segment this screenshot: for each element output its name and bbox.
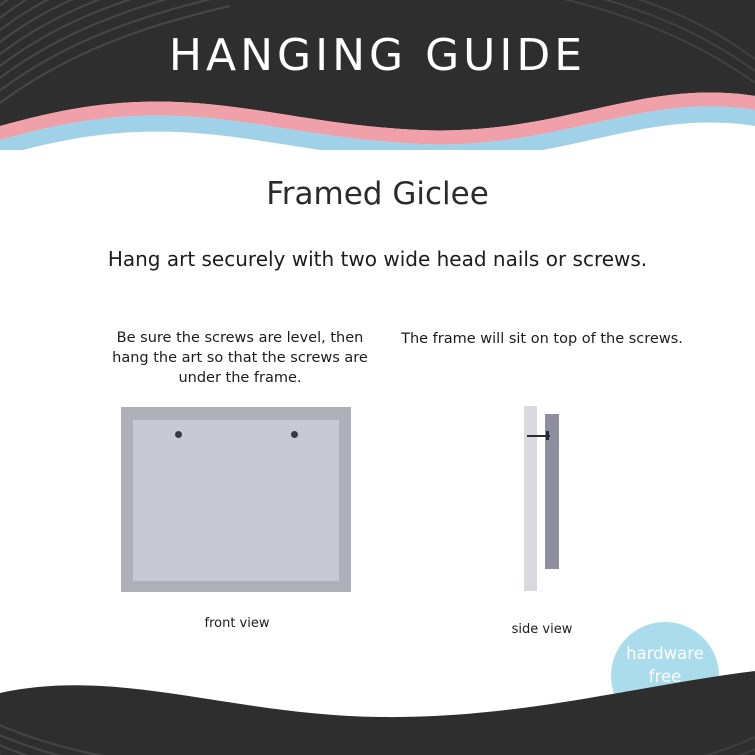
screw-dot-right-icon: [291, 431, 298, 438]
product-title: Framed Giclee: [0, 176, 755, 212]
page-title: HANGING GUIDE: [0, 30, 755, 81]
front-view-frame-inner: [133, 420, 339, 581]
screw-dot-left-icon: [175, 431, 182, 438]
instruction-subtitle: Hang art securely with two wide head nai…: [0, 247, 755, 271]
side-view-caption: The frame will sit on top of the screws.: [400, 329, 684, 349]
bottom-banner: [0, 645, 755, 755]
side-view-screw-head-icon: [546, 431, 549, 440]
front-view-label: front view: [137, 616, 337, 631]
side-view-label: side view: [442, 622, 642, 637]
bottom-banner-graphic: [0, 645, 755, 755]
hanging-guide-page: HANGING GUIDE Framed Giclee Hang art sec…: [0, 0, 755, 755]
front-view-caption: Be sure the screws are level, then hang …: [100, 328, 380, 388]
side-view-wall: [524, 406, 537, 591]
top-banner: HANGING GUIDE: [0, 0, 755, 150]
